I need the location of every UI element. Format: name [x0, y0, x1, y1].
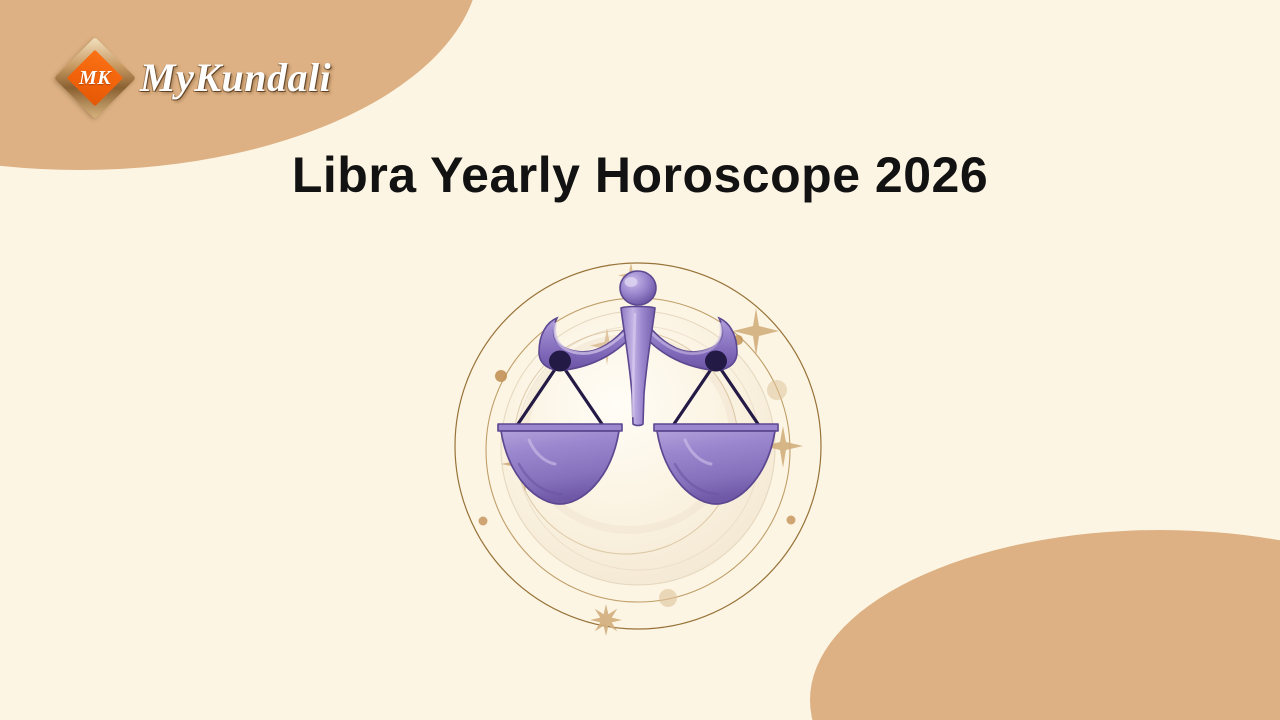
libra-scales-illustration — [443, 248, 833, 648]
libra-zodiac-emblem — [443, 248, 833, 648]
brand-logo[interactable]: MK MyKundali — [56, 42, 331, 114]
poster-canvas: MK MyKundali Libra Yearly Horoscope 2026 — [0, 0, 1280, 720]
decorative-blob-bottom-right — [810, 530, 1280, 720]
mykundali-diamond-icon: MK — [56, 39, 134, 117]
scale-top-sphere — [620, 271, 656, 305]
brand-monogram: MK — [56, 39, 134, 117]
page-title: Libra Yearly Horoscope 2026 — [0, 146, 1280, 204]
brand-name: MyKundali — [140, 58, 331, 98]
